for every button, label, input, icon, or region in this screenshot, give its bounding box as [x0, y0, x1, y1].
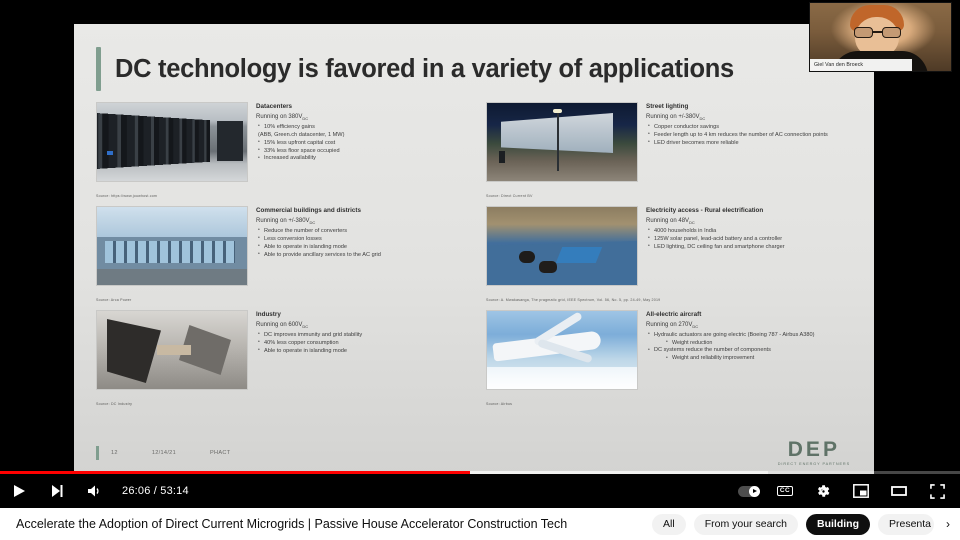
- dep-logo-main: DEP: [778, 439, 850, 460]
- right-column: Street lighting Running on +/-380VDC Cop…: [486, 102, 860, 434]
- datacenter-servers-photo: [96, 102, 248, 182]
- slide-date: 12/14/21: [152, 450, 176, 456]
- voltage-value: Running on +/-380V: [646, 114, 700, 120]
- block-heading: Street lighting: [646, 103, 860, 110]
- fullscreen-icon[interactable]: [918, 474, 956, 508]
- block-voltage: Running on 380VDC: [256, 114, 470, 121]
- block-voltage: Running on 48VDC: [646, 218, 860, 225]
- bullet-item: Able to operate in islanding mode: [256, 348, 470, 356]
- dep-logo: DEP DIRECT ENERGY PARTNERS: [778, 439, 850, 466]
- block-text: Datacenters Running on 380VDC 10% effici…: [256, 102, 470, 195]
- slide-content-columns: Datacenters Running on 380VDC 10% effici…: [96, 102, 860, 434]
- content-block-rural-electrification: Electricity access - Rural electrificati…: [486, 206, 860, 299]
- block-bullets: Hydraulic actuators are going electric (…: [646, 332, 860, 363]
- title-accent-bar: [96, 47, 101, 91]
- next-track-icon[interactable]: [38, 474, 76, 508]
- bullet-item: Reduce the number of converters: [256, 228, 470, 236]
- commercial-building-photo: [96, 206, 248, 286]
- block-voltage: Running on 270VDC: [646, 322, 860, 329]
- image-source-caption: Source: DC Industry: [96, 402, 470, 406]
- sub-bullet-item: Weight reduction: [664, 340, 860, 348]
- voltage-subscript: DC: [302, 324, 308, 329]
- street-lighting-night-photo: [486, 102, 638, 182]
- bullet-item: 10% efficiency gains: [256, 124, 470, 132]
- bullet-item: 15% less upfront capital cost: [256, 140, 470, 148]
- voltage-value: Running on +/-380V: [256, 218, 310, 224]
- bullet-item: 40% less copper consumption: [256, 340, 470, 348]
- presenter-name: Giel Van den Broeck: [810, 62, 863, 68]
- voltage-value: Running on 48V: [646, 218, 689, 224]
- block-heading: Industry: [256, 311, 470, 318]
- image-source-caption: Source: A. Mwakasanga, The pragmatic gri…: [486, 298, 860, 302]
- content-block-industry: Industry Running on 600VDC DC improves i…: [96, 310, 470, 403]
- player-controls[interactable]: 26:06 / 53:14 CC: [0, 474, 960, 508]
- miniplayer-icon[interactable]: [842, 474, 880, 508]
- below-player-bar: Accelerate the Adoption of Direct Curren…: [0, 508, 960, 540]
- voltage-value: Running on 600V: [256, 322, 302, 328]
- block-bullets: Copper conductor savings Feeder length u…: [646, 124, 860, 148]
- presenter-name-bar: Giel Van den Broeck: [810, 59, 912, 71]
- chip-all[interactable]: All: [652, 514, 686, 535]
- block-text: All-electric aircraft Running on 270VDC …: [646, 310, 860, 403]
- block-text: Industry Running on 600VDC DC improves i…: [256, 310, 470, 403]
- video-player[interactable]: DC technology is favored in a variety of…: [0, 0, 960, 508]
- bullet-item: Feeder length up to 4 km reduces the num…: [646, 132, 860, 140]
- voltage-value: Running on 270V: [646, 322, 692, 328]
- footer-accent-bar: [96, 446, 99, 460]
- image-source-caption: Source: https://www.jouwhost.com: [96, 194, 470, 198]
- block-voltage: Running on +/-380VDC: [646, 114, 860, 121]
- volume-icon[interactable]: [76, 474, 114, 508]
- block-text: Commercial buildings and districts Runni…: [256, 206, 470, 299]
- block-heading: Electricity access - Rural electrificati…: [646, 207, 860, 214]
- content-block-commercial: Commercial buildings and districts Runni…: [96, 206, 470, 299]
- content-block-aircraft: All-electric aircraft Running on 270VDC …: [486, 310, 860, 403]
- block-text: Electricity access - Rural electrificati…: [646, 206, 860, 299]
- block-heading: Commercial buildings and districts: [256, 207, 470, 214]
- all-electric-aircraft-photo: [486, 310, 638, 390]
- gear-icon[interactable]: [804, 474, 842, 508]
- filter-chip-bar[interactable]: All From your search Building Presenta ›: [652, 508, 960, 540]
- bullet-item: 33% less floor space occupied: [256, 148, 470, 156]
- bullet-item: Hydraulic actuators are going electric (…: [646, 332, 860, 348]
- voltage-subscript: DC: [310, 220, 316, 225]
- block-bullets: Reduce the number of converters Less con…: [256, 228, 470, 260]
- industry-robot-arm-photo: [96, 310, 248, 390]
- bullet-item: LED lighting, DC ceiling fan and smartph…: [646, 244, 860, 252]
- bullet-item: DC improves immunity and grid stability: [256, 332, 470, 340]
- block-heading: All-electric aircraft: [646, 311, 860, 318]
- cc-label: CC: [777, 486, 793, 497]
- chip-from-your-search[interactable]: From your search: [694, 514, 798, 535]
- slide-title: DC technology is favored in a variety of…: [115, 55, 734, 84]
- voltage-subscript: DC: [692, 324, 698, 329]
- voltage-subscript: DC: [302, 116, 308, 121]
- bullet-item: DC systems reduce the number of componen…: [646, 347, 860, 363]
- play-icon[interactable]: [0, 474, 38, 508]
- bullet-item: Increased availability: [256, 155, 470, 163]
- chip-presentation[interactable]: Presenta: [878, 514, 934, 535]
- presentation-slide: DC technology is favored in a variety of…: [74, 24, 874, 474]
- bullet-item: Able to provide ancillary services to th…: [256, 252, 470, 260]
- image-source-caption: Source: Airbus: [486, 402, 860, 406]
- captions-button[interactable]: CC: [766, 474, 804, 508]
- bullet-text: DC systems reduce the number of componen…: [654, 347, 771, 353]
- content-block-street-lighting: Street lighting Running on +/-380VDC Cop…: [486, 102, 860, 195]
- slide-project: PHACT: [210, 450, 230, 456]
- slide-title-row: DC technology is favored in a variety of…: [96, 44, 854, 94]
- image-source-caption: Source: Direct Current BV: [486, 194, 860, 198]
- voltage-subscript: DC: [700, 116, 706, 121]
- left-column: Datacenters Running on 380VDC 10% effici…: [96, 102, 470, 434]
- bullet-item: Copper conductor savings: [646, 124, 860, 132]
- time-display: 26:06 / 53:14: [122, 485, 189, 497]
- sub-bullets: Weight and reliability improvement: [664, 355, 860, 363]
- video-title[interactable]: Accelerate the Adoption of Direct Curren…: [16, 517, 567, 531]
- slide-viewport: DC technology is favored in a variety of…: [74, 24, 874, 474]
- theater-mode-icon[interactable]: [880, 474, 918, 508]
- dep-logo-sub: DIRECT ENERGY PARTNERS: [778, 462, 850, 466]
- block-text: Street lighting Running on +/-380VDC Cop…: [646, 102, 860, 195]
- sub-bullets: Weight reduction: [664, 340, 860, 348]
- image-source-caption: Source: Arca Power: [96, 298, 470, 302]
- chevron-right-icon[interactable]: ›: [942, 517, 954, 531]
- chip-building[interactable]: Building: [806, 514, 870, 535]
- rural-solar-panel-photo: [486, 206, 638, 286]
- presenter-webcam-overlay: Giel Van den Broeck: [809, 2, 952, 72]
- bullet-note: (ABB, Green.ch datacenter, 1 MW): [256, 132, 470, 140]
- sub-bullet-item: Weight and reliability improvement: [664, 355, 860, 363]
- slide-number: 12: [111, 450, 118, 456]
- youtube-watch-page: DC technology is favored in a variety of…: [0, 0, 960, 540]
- right-controls[interactable]: CC: [732, 474, 960, 508]
- block-bullets: 4000 households in India 125W solar pane…: [646, 228, 860, 252]
- slide-footer: 12 12/14/21 PHACT: [96, 442, 860, 464]
- block-heading: Datacenters: [256, 103, 470, 110]
- bullet-text: Hydraulic actuators are going electric (…: [654, 332, 814, 338]
- bullet-item: Less conversion losses: [256, 236, 470, 244]
- block-bullets: DC improves immunity and grid stability …: [256, 332, 470, 356]
- autoplay-toggle[interactable]: [732, 474, 766, 508]
- voltage-value: Running on 380V: [256, 114, 302, 120]
- glasses-icon: [854, 27, 901, 38]
- block-voltage: Running on +/-380VDC: [256, 218, 470, 225]
- voltage-subscript: DC: [689, 220, 695, 225]
- block-bullets: 10% efficiency gains (ABB, Green.ch data…: [256, 124, 470, 164]
- content-block-datacenters: Datacenters Running on 380VDC 10% effici…: [96, 102, 470, 195]
- bullet-item: LED driver becomes more reliable: [646, 140, 860, 148]
- bullet-item: Able to operate in islanding mode: [256, 244, 470, 252]
- bullet-item: 4000 households in India: [646, 228, 860, 236]
- bullet-item: 125W solar panel, lead-acid battery and …: [646, 236, 860, 244]
- block-voltage: Running on 600VDC: [256, 322, 470, 329]
